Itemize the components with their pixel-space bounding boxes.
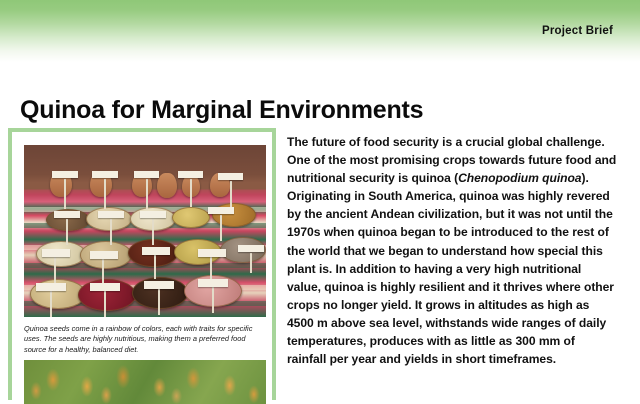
page-title: Quinoa for Marginal Environments [20, 96, 423, 125]
figure-caption: Quinoa seeds come in a rainbow of colors… [24, 324, 264, 355]
document-kind-label: Project Brief [542, 25, 613, 37]
body-text-column: The future of food security is a crucial… [287, 133, 617, 368]
header-banner: Project Brief [0, 0, 640, 62]
quinoa-field-photo [24, 360, 266, 404]
quinoa-seed-bowls-photo [24, 145, 266, 317]
intro-paragraph: The future of food security is a crucial… [287, 133, 617, 368]
paragraph-text-part-2: ). Originating in South America, quinoa … [287, 171, 614, 366]
figure-panel: Quinoa seeds come in a rainbow of colors… [8, 128, 276, 400]
species-name: Chenopodium quinoa [458, 171, 581, 185]
